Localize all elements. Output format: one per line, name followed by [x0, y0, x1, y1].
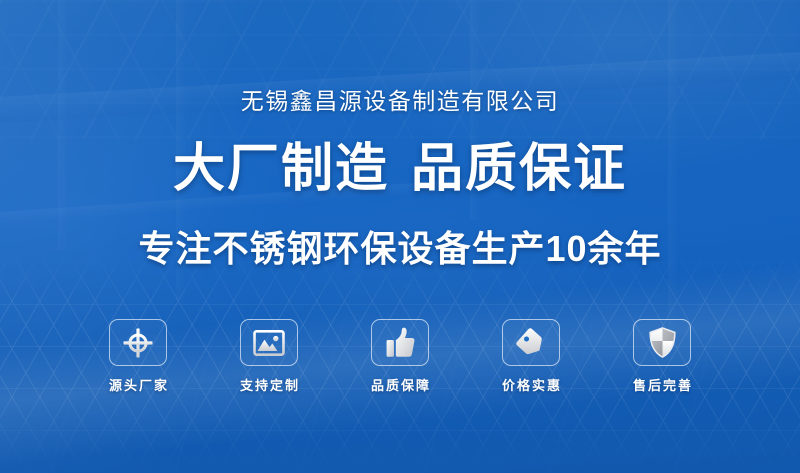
feature-label: 品质保障 — [369, 379, 431, 392]
shield-icon — [649, 327, 676, 358]
feature-item-source-factory[interactable]: 源头厂家 — [109, 319, 167, 392]
price-tag-icon — [516, 328, 546, 358]
crosshair-target-icon — [123, 328, 153, 358]
feature-label: 价格实惠 — [500, 379, 562, 392]
feature-icon-box — [371, 319, 429, 366]
feature-icon-box — [633, 319, 691, 366]
company-name: 无锡鑫昌源设备制造有限公司 — [241, 90, 560, 113]
feature-label: 支持定制 — [238, 379, 300, 392]
picture-image-icon — [253, 330, 285, 356]
thumbs-up-icon — [386, 327, 415, 358]
feature-label: 源头厂家 — [107, 379, 169, 392]
feature-icon-box — [502, 319, 560, 366]
feature-item-customization[interactable]: 支持定制 — [240, 319, 298, 392]
feature-item-quality[interactable]: 品质保障 — [371, 319, 429, 392]
headline: 大厂制造品质保证 — [173, 143, 627, 195]
promo-banner: 无锡鑫昌源设备制造有限公司 大厂制造品质保证 专注不锈钢环保设备生产10余年 — [0, 0, 800, 473]
feature-icon-box — [240, 319, 298, 366]
feature-item-after-sales[interactable]: 售后完善 — [633, 319, 691, 392]
headline-part-2: 品质保证 — [411, 140, 627, 198]
feature-label: 售后完善 — [631, 379, 693, 392]
feature-icon-box — [109, 319, 167, 366]
banner-content: 无锡鑫昌源设备制造有限公司 大厂制造品质保证 专注不锈钢环保设备生产10余年 — [0, 0, 800, 473]
feature-list: 源头厂家 — [0, 319, 800, 392]
subheadline: 专注不锈钢环保设备生产10余年 — [138, 231, 661, 267]
headline-part-1: 大厂制造 — [173, 140, 389, 198]
feature-item-price[interactable]: 价格实惠 — [502, 319, 560, 392]
